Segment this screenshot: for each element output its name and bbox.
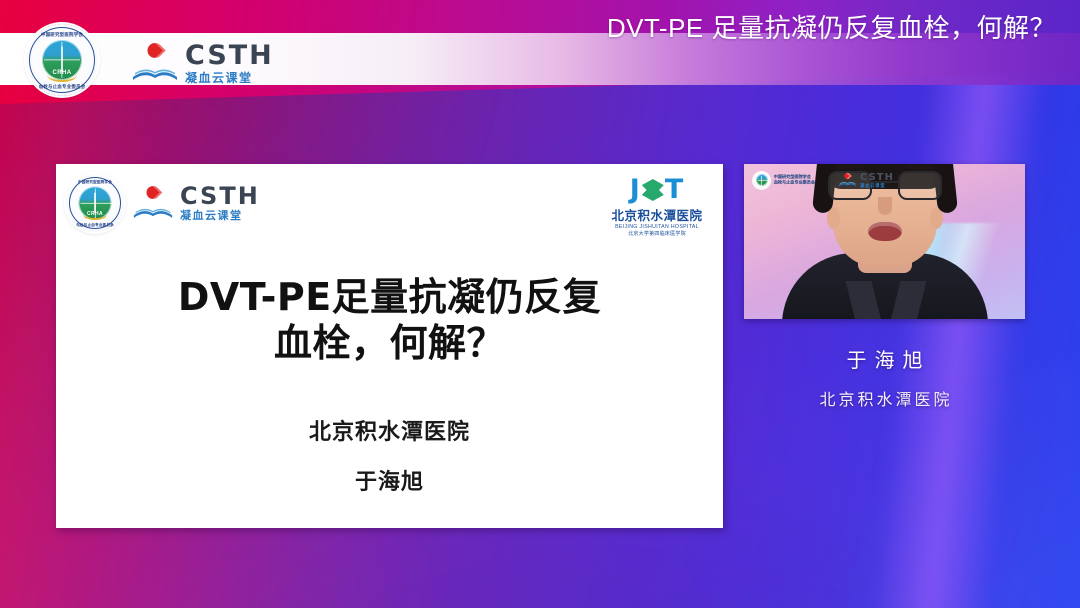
slide-crha-abbrev: CRHA <box>87 211 103 217</box>
crha-abbrev: CRHA <box>53 70 72 76</box>
csth-brand-logo: CSTH 凝血云课堂 <box>132 42 274 84</box>
presentation-slide[interactable]: 中国研究型医院学会 CRHA 血栓与止血专业委员会 CSTH <box>56 164 723 528</box>
csth-mark-icon <box>132 43 178 83</box>
speaker-collar-right <box>889 281 926 319</box>
jst-monogram-icon: JT <box>630 176 684 203</box>
jst-letter-t: T <box>665 174 684 205</box>
jst-center-mark-icon <box>642 179 664 201</box>
slide-csth-subtitle: 凝血云课堂 <box>180 211 260 222</box>
video-csth-logo: CSTH 凝血云课堂 <box>838 171 894 189</box>
video-csth-wordmark: CSTH 凝血云课堂 <box>860 171 894 189</box>
speaker-mouth <box>868 222 902 241</box>
video-crha-text: 中国研究型医院学会 血栓与止血专业委员会 <box>774 174 815 185</box>
slide-speaker-name: 于海旭 <box>56 464 723 496</box>
video-crha-logo: 中国研究型医院学会 血栓与止血专业委员会 <box>753 171 815 188</box>
video-csth-subtitle: 凝血云课堂 <box>860 183 894 189</box>
slide-title-line-2: 血栓，何解？ <box>56 320 723 366</box>
jst-hospital-affiliation: 北京大学第四临床医学院 <box>605 230 709 237</box>
speaker-caption: 于海旭 北京积水潭医院 <box>744 344 1025 410</box>
page-title: DVT-PE 足量抗凝仍反复血栓，何解？ <box>607 0 1056 52</box>
slide-blood-drop-icon <box>144 183 162 201</box>
slide-crha-text-top: 中国研究型医院学会 <box>69 179 121 184</box>
video-crha-globe-icon <box>756 174 768 186</box>
speaker-collar-left <box>845 281 882 319</box>
crha-emblem-text-top: 中国研究型医院学会 <box>30 31 95 37</box>
csth-wordmark: CSTH 凝血云课堂 <box>185 42 274 84</box>
slide-organization: 北京积水潭医院 <box>56 414 723 446</box>
slide-logo-group-left: 中国研究型医院学会 CRHA 血栓与止血专业委员会 CSTH <box>66 174 260 232</box>
slide-crha-text-bottom: 血栓与止血专业委员会 <box>69 222 121 227</box>
glasses-lens-right <box>898 171 942 200</box>
jishuitan-hospital-logo: JT 北京积水潭医院 BEIJING JISHUITAN HOSPITAL 北京… <box>605 176 709 237</box>
blood-drop-icon <box>144 40 165 61</box>
speaker-nose <box>878 197 892 215</box>
video-csth-name: CSTH <box>860 171 894 183</box>
crha-emblem-text-bottom: 血栓与止血专业委员会 <box>30 83 95 89</box>
speaker-video-panel[interactable]: 中国研究型医院学会 血栓与止血专业委员会 CSTH 凝血云课堂 <box>744 164 1025 319</box>
slide-open-book-icon <box>133 202 173 220</box>
jst-letter-j: J <box>630 174 641 205</box>
slide-title-line-1: DVT-PE足量抗凝仍反复 <box>56 274 723 320</box>
slide-csth-wordmark: CSTH 凝血云课堂 <box>180 184 260 222</box>
csth-subtitle: 凝血云课堂 <box>185 72 274 84</box>
video-crha-emblem-icon <box>753 171 770 188</box>
slide-crha-emblem-icon: 中国研究型医院学会 CRHA 血栓与止血专业委员会 <box>66 174 124 232</box>
speaker-affiliation-label: 北京积水潭医院 <box>744 386 1025 410</box>
video-csth-mark-icon <box>838 172 856 187</box>
jst-hospital-name-cn: 北京积水潭医院 <box>605 205 709 224</box>
video-open-book-icon <box>838 179 856 187</box>
slide-csth-logo: CSTH 凝血云课堂 <box>133 184 260 222</box>
slide-csth-mark-icon <box>133 186 173 221</box>
header-bar: DVT-PE 足量抗凝仍反复血栓，何解？ 中国研究型医院学会 CRHA 血栓与止… <box>0 0 1080 104</box>
video-overlay-logos: 中国研究型医院学会 血栓与止血专业委员会 CSTH 凝血云课堂 <box>753 171 894 189</box>
crha-emblem-icon: 中国研究型医院学会 CRHA 血栓与止血专业委员会 <box>26 24 98 96</box>
broadcast-stage: DVT-PE 足量抗凝仍反复血栓，何解？ 中国研究型医院学会 CRHA 血栓与止… <box>0 0 1080 608</box>
open-book-icon <box>132 62 178 82</box>
csth-name: CSTH <box>185 42 274 69</box>
video-crha-text-bottom: 血栓与止血专业委员会 <box>774 180 815 186</box>
slide-title: DVT-PE足量抗凝仍反复 血栓，何解？ <box>56 274 723 367</box>
speaker-name-label: 于海旭 <box>744 344 1025 373</box>
slide-csth-name: CSTH <box>180 184 260 208</box>
